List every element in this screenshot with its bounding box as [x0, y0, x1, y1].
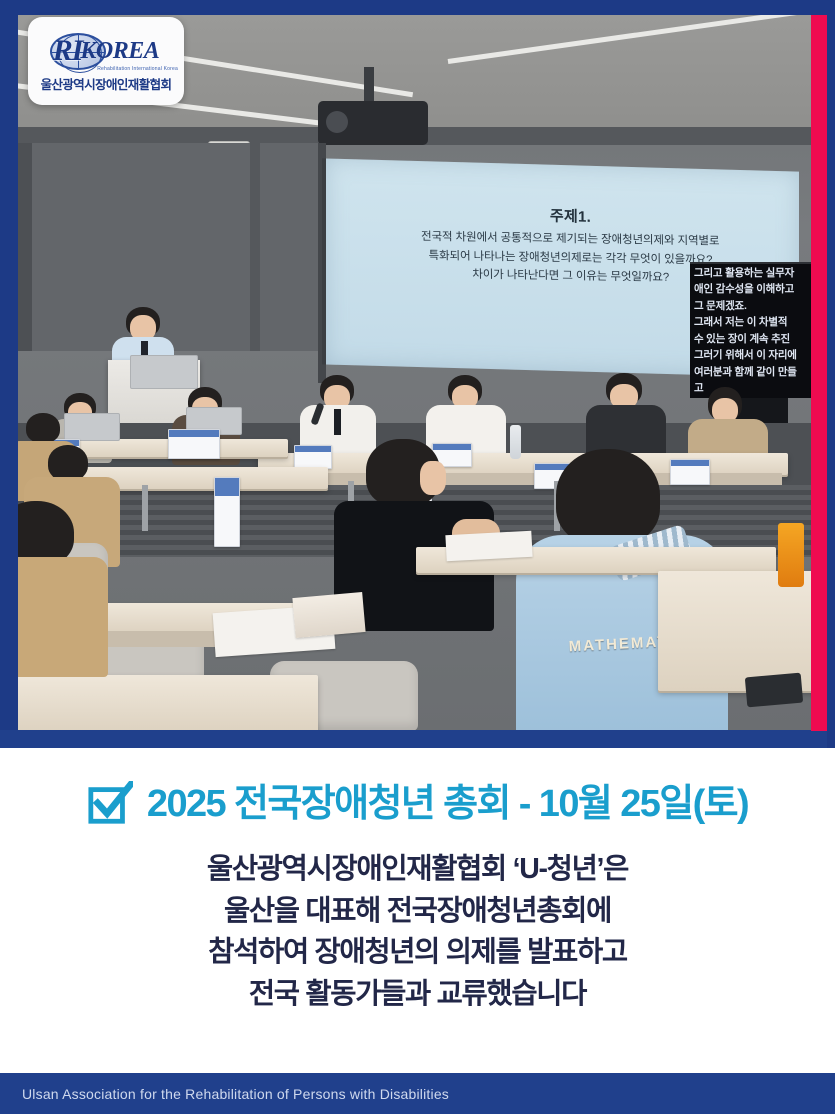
caption-line: 그래서 저는 이 차별적 — [690, 313, 811, 329]
body-line: 울산을 대표해 전국장애청년총회에 — [0, 891, 835, 933]
organization-logo-badge: RI KOREA Rehabilitation International Ko… — [28, 17, 184, 105]
participant-head — [26, 413, 60, 443]
wall-panel — [18, 143, 318, 351]
headline-row: 2025 전국장애청년 총회 - 10월 25일(토) — [0, 781, 835, 827]
body-line: 참석하여 장애청년의 의제를 발표하고 — [0, 932, 835, 974]
caption-line: 고 — [690, 379, 811, 395]
page-title: 2025 전국장애청년 총회 - 10월 25일(토) — [147, 785, 748, 823]
frame-top-bar — [0, 0, 835, 15]
participant-torso — [18, 557, 108, 677]
frame-right-accent — [811, 15, 827, 731]
frame-bottom-bar — [0, 730, 835, 748]
body-line: 전국 활동가들과 교류했습니다 — [0, 974, 835, 1016]
body-line: 울산광역시장애인재활협회 ‘U-청년’은 — [0, 849, 835, 891]
caption-line: 그러기 위해서 이 자리에 — [690, 346, 811, 362]
participant-face — [420, 461, 446, 495]
logo-ri-text: RI — [53, 34, 83, 68]
poster-card: 주제1. 전국적 차원에서 공통적으로 제기되는 장애청년의제와 지역별로 특화… — [0, 0, 835, 1114]
wall-panel — [250, 143, 260, 351]
handout — [445, 531, 532, 561]
photo-block: 주제1. 전국적 차원에서 공통적으로 제기되는 장애청년의제와 지역별로 특화… — [0, 0, 835, 748]
smartphone — [745, 673, 803, 708]
laptop — [64, 413, 120, 441]
live-caption-monitor: 그리고 활용하는 실무자 애인 감수성을 이해하고 그 문제겠죠. 그래서 저는… — [690, 262, 811, 398]
panelist-tie — [334, 409, 341, 435]
water-bottle — [510, 425, 521, 459]
podium-laptop — [130, 355, 198, 389]
wall-panel — [18, 143, 32, 351]
name-card — [670, 459, 710, 485]
brochure — [292, 592, 365, 638]
name-card — [294, 445, 332, 469]
beverage-bottle — [778, 523, 804, 587]
logo-korea-text: KOREA — [80, 38, 159, 65]
projector-lens — [326, 111, 348, 133]
footer-bar: Ulsan Association for the Rehabilitation… — [0, 1073, 835, 1114]
caption-line: 여러분과 함께 같이 만들 — [690, 363, 811, 379]
footer-organization-name: Ulsan Association for the Rehabilitation… — [0, 1086, 449, 1102]
desk-leg — [142, 485, 148, 531]
checkbox-checked-icon — [87, 781, 133, 827]
caption-line: 수 있는 장이 계속 추진 — [690, 330, 811, 346]
participant-head — [48, 445, 88, 481]
ceiling-projector — [318, 101, 428, 145]
front-desk — [18, 675, 318, 731]
logo-tagline: Rehabilitation International Korea — [97, 66, 178, 72]
caption-line: 그 문제겠죠. — [690, 297, 811, 313]
text-block: 2025 전국장애청년 총회 - 10월 25일(토) 울산광역시장애인재활협회… — [0, 748, 835, 1073]
hanging-name-card — [214, 477, 240, 547]
name-card — [168, 429, 220, 459]
body-copy: 울산광역시장애인재활협회 ‘U-청년’은 울산을 대표해 전국장애청년총회에 참… — [0, 849, 835, 1015]
logo-korean-name: 울산광역시장애인재활협회 — [41, 74, 172, 93]
participant-head — [556, 449, 660, 545]
logo-mark-row: RI KOREA Rehabilitation International Ko… — [28, 29, 184, 73]
frame-left-bar — [0, 0, 18, 748]
caption-line: 애인 감수성을 이해하고 — [690, 280, 811, 296]
frame-right-bar — [827, 0, 835, 748]
conference-photo: 주제1. 전국적 차원에서 공통적으로 제기되는 장애청년의제와 지역별로 특화… — [18, 15, 811, 731]
caption-line: 그리고 활용하는 실무자 — [690, 264, 811, 280]
